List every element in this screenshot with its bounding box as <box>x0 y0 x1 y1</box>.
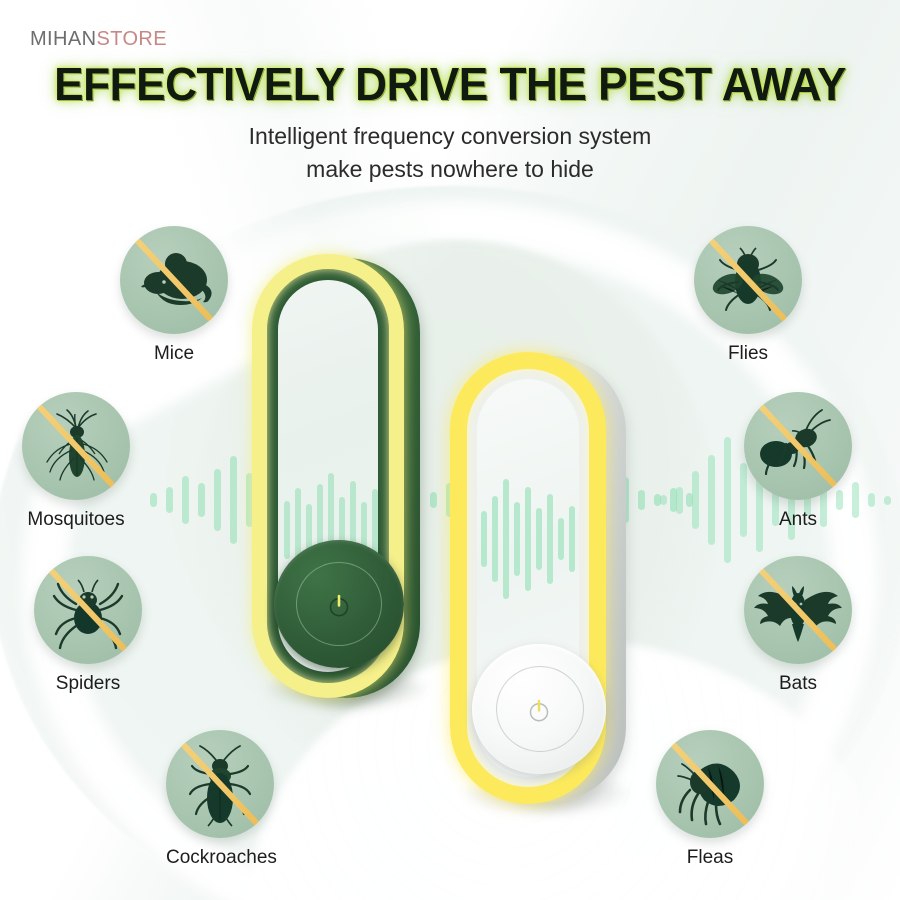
pest-badge-ants: Ants <box>744 392 852 531</box>
subtitle: Intelligent frequency conversion system … <box>0 120 900 186</box>
pest-badge-bats: Bats <box>744 556 852 695</box>
pest-label: Cockroaches <box>166 847 274 869</box>
device-button-hub[interactable] <box>472 644 606 774</box>
page-title: EFFECTIVELY DRIVE THE PEST AWAY <box>18 57 882 111</box>
pest-label: Mosquitoes <box>22 509 130 531</box>
pest-label: Ants <box>744 509 852 531</box>
pest-badge-fleas: Fleas <box>656 730 764 869</box>
pest-badge-disc <box>694 226 802 334</box>
pest-label: Spiders <box>34 673 142 695</box>
brand-name-secondary: STORE <box>96 28 167 50</box>
pest-badge-mice: Mice <box>120 226 228 365</box>
pest-badge-disc <box>34 556 142 664</box>
subtitle-line-1: Intelligent frequency conversion system <box>0 120 900 153</box>
brand-logo: MIHANSTORE <box>30 28 167 51</box>
pest-label: Flies <box>694 343 802 365</box>
power-icon[interactable] <box>324 590 354 620</box>
pest-badge-disc <box>22 392 130 500</box>
pest-label: Bats <box>744 673 852 695</box>
pest-badge-mosquitoes: Mosquitoes <box>22 392 130 531</box>
pest-label: Mice <box>120 343 228 365</box>
subtitle-line-2: make pests nowhere to hide <box>0 153 900 186</box>
pest-badge-flies: Flies <box>694 226 802 365</box>
pest-badge-disc <box>120 226 228 334</box>
pest-badge-disc <box>656 730 764 838</box>
pest-badge-disc <box>744 392 852 500</box>
device-green-repeller[interactable] <box>240 250 425 710</box>
device-white-repeller[interactable] <box>440 348 630 813</box>
product-banner: MIHANSTORE EFFECTIVELY DRIVE THE PEST AW… <box>0 0 900 900</box>
pest-badge-cockroaches: Cockroaches <box>166 730 274 869</box>
pest-badge-disc <box>166 730 274 838</box>
pest-badge-disc <box>744 556 852 664</box>
device-button-hub[interactable] <box>274 540 404 668</box>
power-icon[interactable] <box>524 695 554 725</box>
pest-badge-spiders: Spiders <box>34 556 142 695</box>
pest-label: Fleas <box>656 847 764 869</box>
brand-name-primary: MIHAN <box>30 28 96 50</box>
